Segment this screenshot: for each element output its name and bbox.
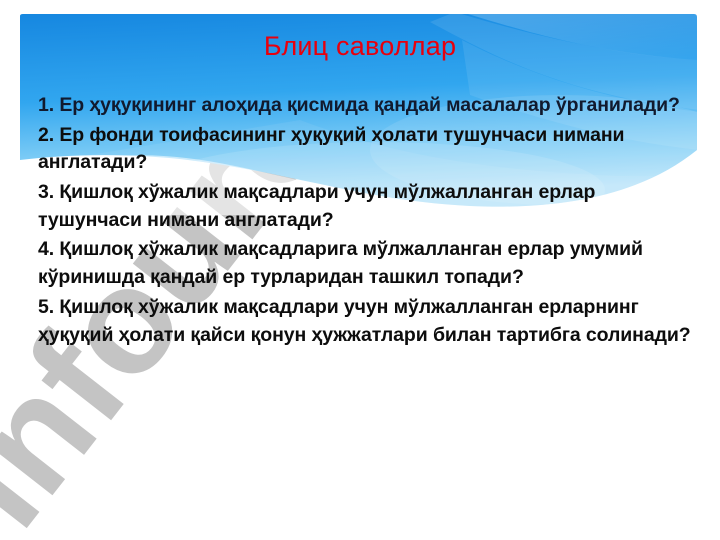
list-item: 1. Ер ҳуқуқининг алоҳида қисмида қандай … — [38, 92, 698, 120]
slide-canvas: infourok — [0, 0, 720, 540]
page-title: Блиц саволлар — [0, 32, 720, 62]
list-item: 5. Қишлоқ хўжалик мақсадлари учун мўлжал… — [38, 294, 698, 349]
list-item: 4. Қишлоқ хўжалик мақсадларига мўлжаллан… — [38, 236, 698, 291]
question-list: 1. Ер ҳуқуқининг алоҳида қисмида қандай … — [38, 92, 698, 351]
list-item: 3. Қишлоқ хўжалик мақсадлари учун мўлжал… — [38, 179, 698, 234]
list-item: 2. Ер фонди тоифасининг ҳуқуқий ҳолати т… — [38, 122, 698, 177]
